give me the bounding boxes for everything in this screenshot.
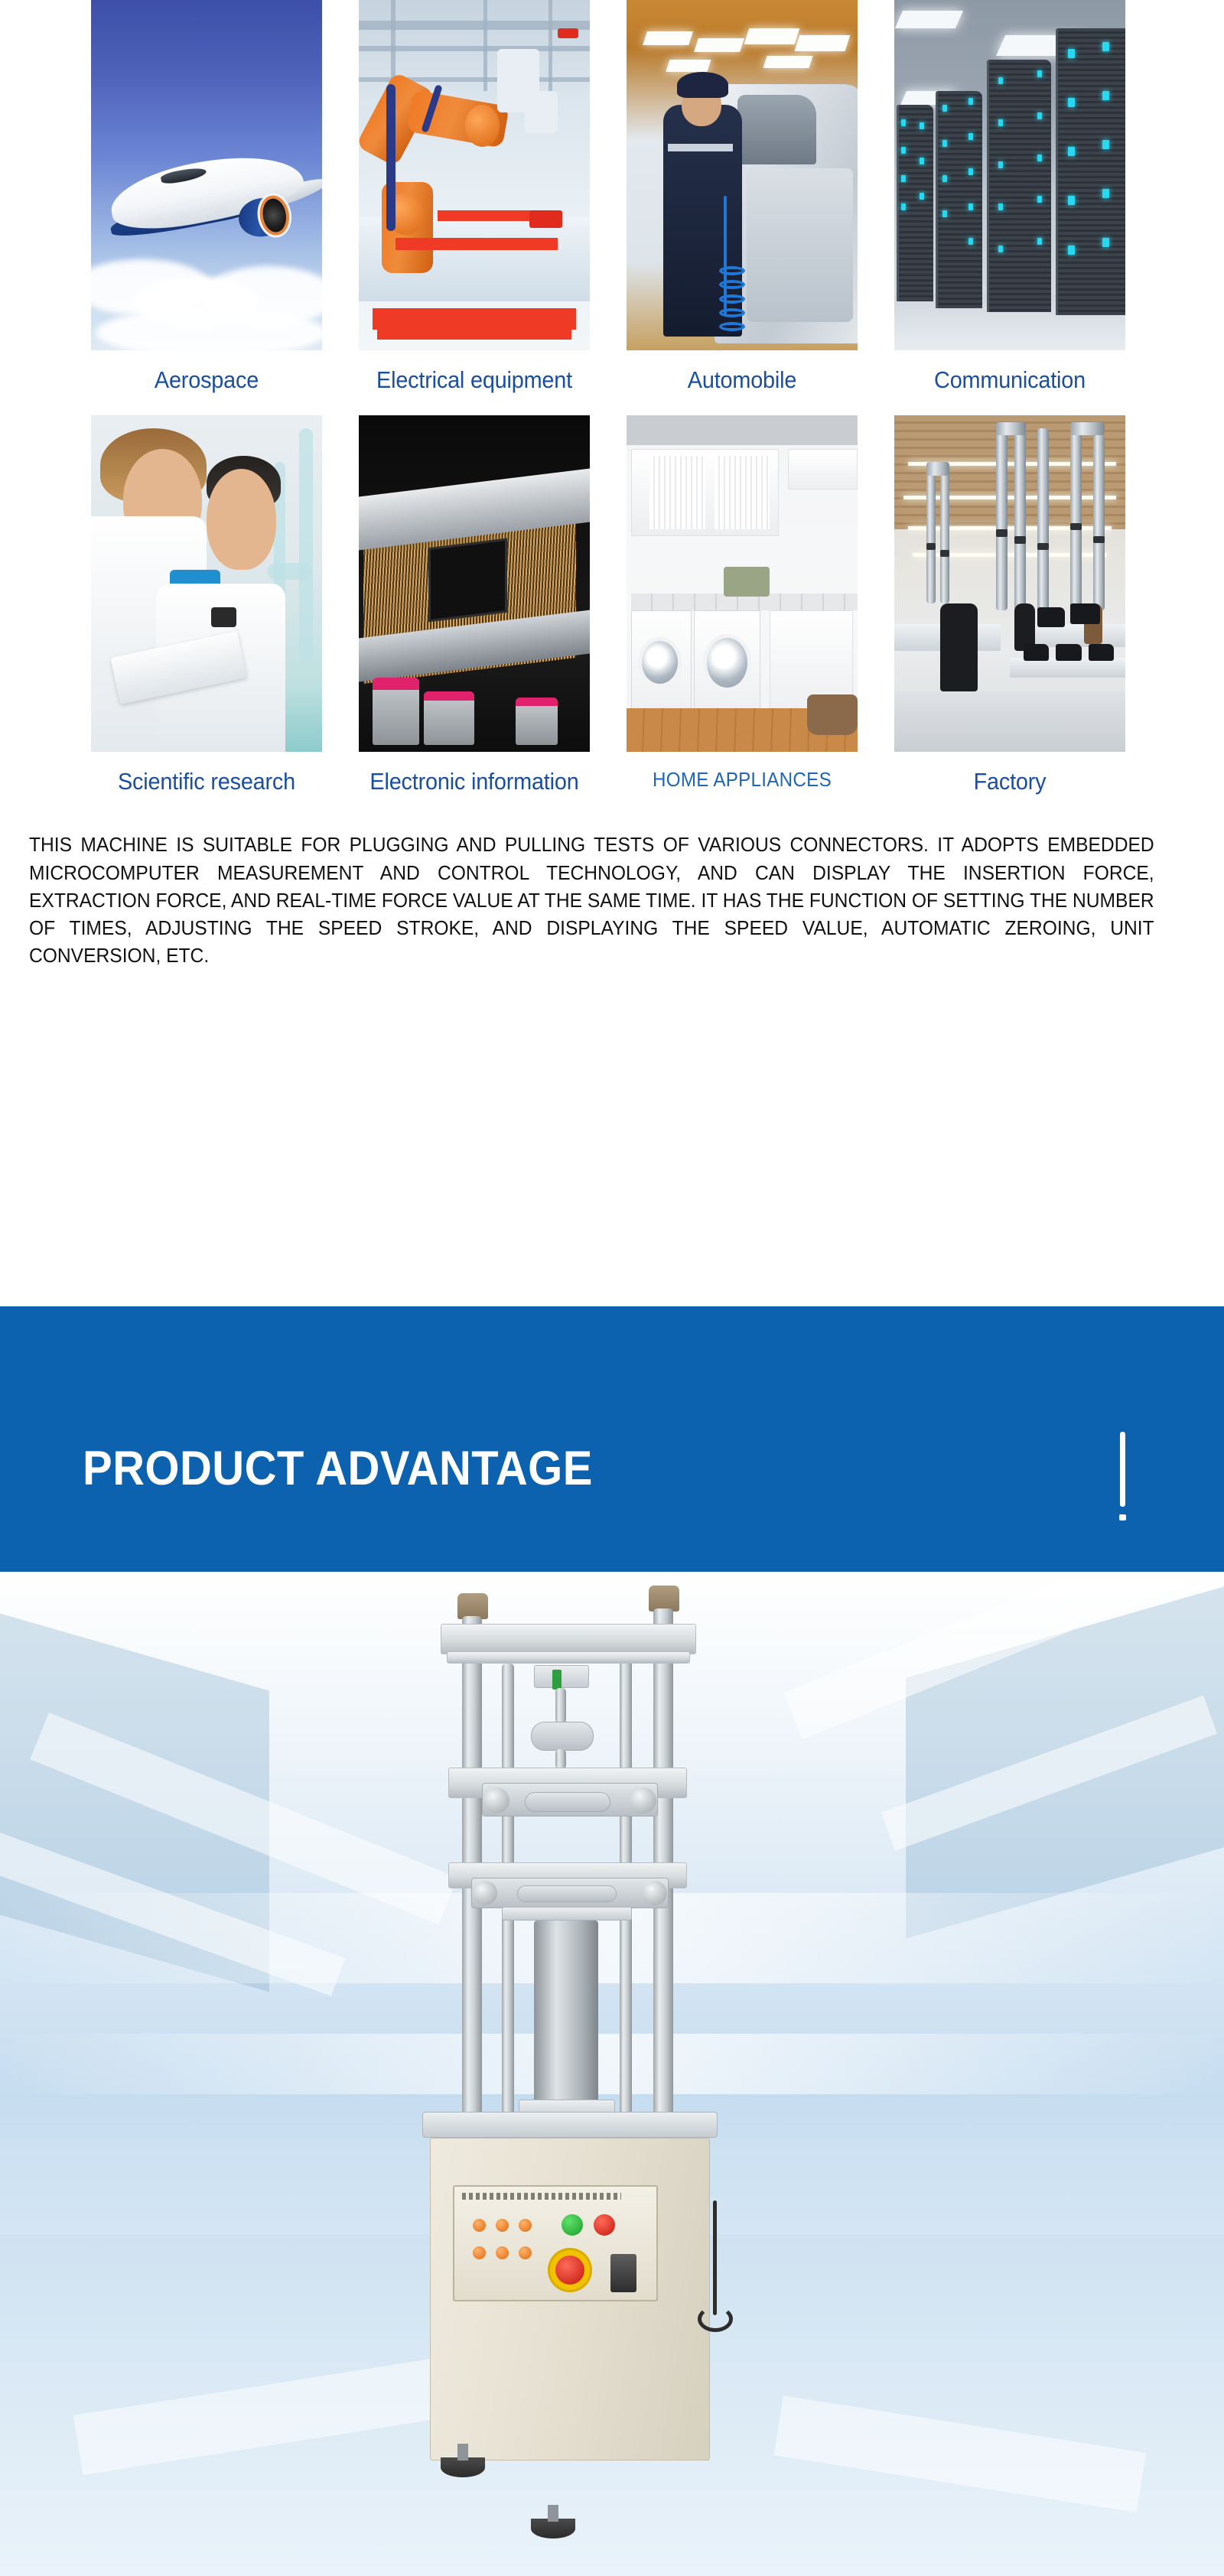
- gallery-item-home-appliances[interactable]: HOME APPLIANCES: [612, 415, 872, 795]
- banner-title: PRODUCT ADVANTAGE: [83, 1441, 593, 1496]
- gallery-item-label: HOME APPLIANCES: [625, 769, 860, 791]
- gallery-item-label: Aerospace: [90, 367, 324, 394]
- gallery-item-automobile[interactable]: Automobile: [612, 0, 872, 394]
- gallery-item-label: Scientific research: [90, 769, 324, 795]
- exclamation-accent-icon: [1120, 1432, 1125, 1507]
- gallery-item-communication[interactable]: Communication: [880, 0, 1140, 394]
- gallery-item-label: Automobile: [625, 367, 860, 394]
- product-advantage-banner: PRODUCT ADVANTAGE: [0, 1306, 1224, 1572]
- gallery-item-electronic-information[interactable]: Electronic information: [344, 415, 604, 795]
- gallery-item-electrical-equipment[interactable]: Electrical equipment: [344, 0, 604, 394]
- gallery-item-label: Factory: [893, 769, 1128, 795]
- scientific-research-image: [91, 415, 322, 752]
- product-description: THIS MACHINE IS SUITABLE FOR PLUGGING AN…: [29, 831, 1154, 970]
- stop-button[interactable]: [594, 2214, 615, 2236]
- gallery-item-label: Communication: [893, 367, 1128, 394]
- start-button[interactable]: [562, 2214, 583, 2236]
- gallery-row: Scientific research Electronic informati…: [0, 415, 1224, 795]
- gallery-item-scientific-research[interactable]: Scientific research: [76, 415, 337, 795]
- home-appliances-image: [627, 415, 858, 752]
- gallery-item-label: Electrical equipment: [357, 367, 592, 394]
- electrical-equipment-image: [359, 0, 590, 350]
- electronic-information-image: [359, 415, 590, 752]
- automobile-image: [627, 0, 858, 350]
- emergency-stop-button[interactable]: [555, 2256, 584, 2285]
- aerospace-image: [91, 0, 322, 350]
- testing-machine: [367, 1572, 796, 2576]
- exclamation-accent-dot-icon: [1119, 1514, 1126, 1521]
- gallery-item-factory[interactable]: Factory: [880, 415, 1140, 795]
- product-hero-image: [0, 1572, 1224, 2576]
- communication-image: [894, 0, 1125, 350]
- gallery-item-aerospace[interactable]: Aerospace: [76, 0, 337, 394]
- factory-image: [894, 415, 1125, 752]
- application-gallery: Aerospace: [0, 0, 1224, 795]
- gallery-row: Aerospace: [0, 0, 1224, 394]
- gallery-item-label: Electronic information: [357, 769, 592, 795]
